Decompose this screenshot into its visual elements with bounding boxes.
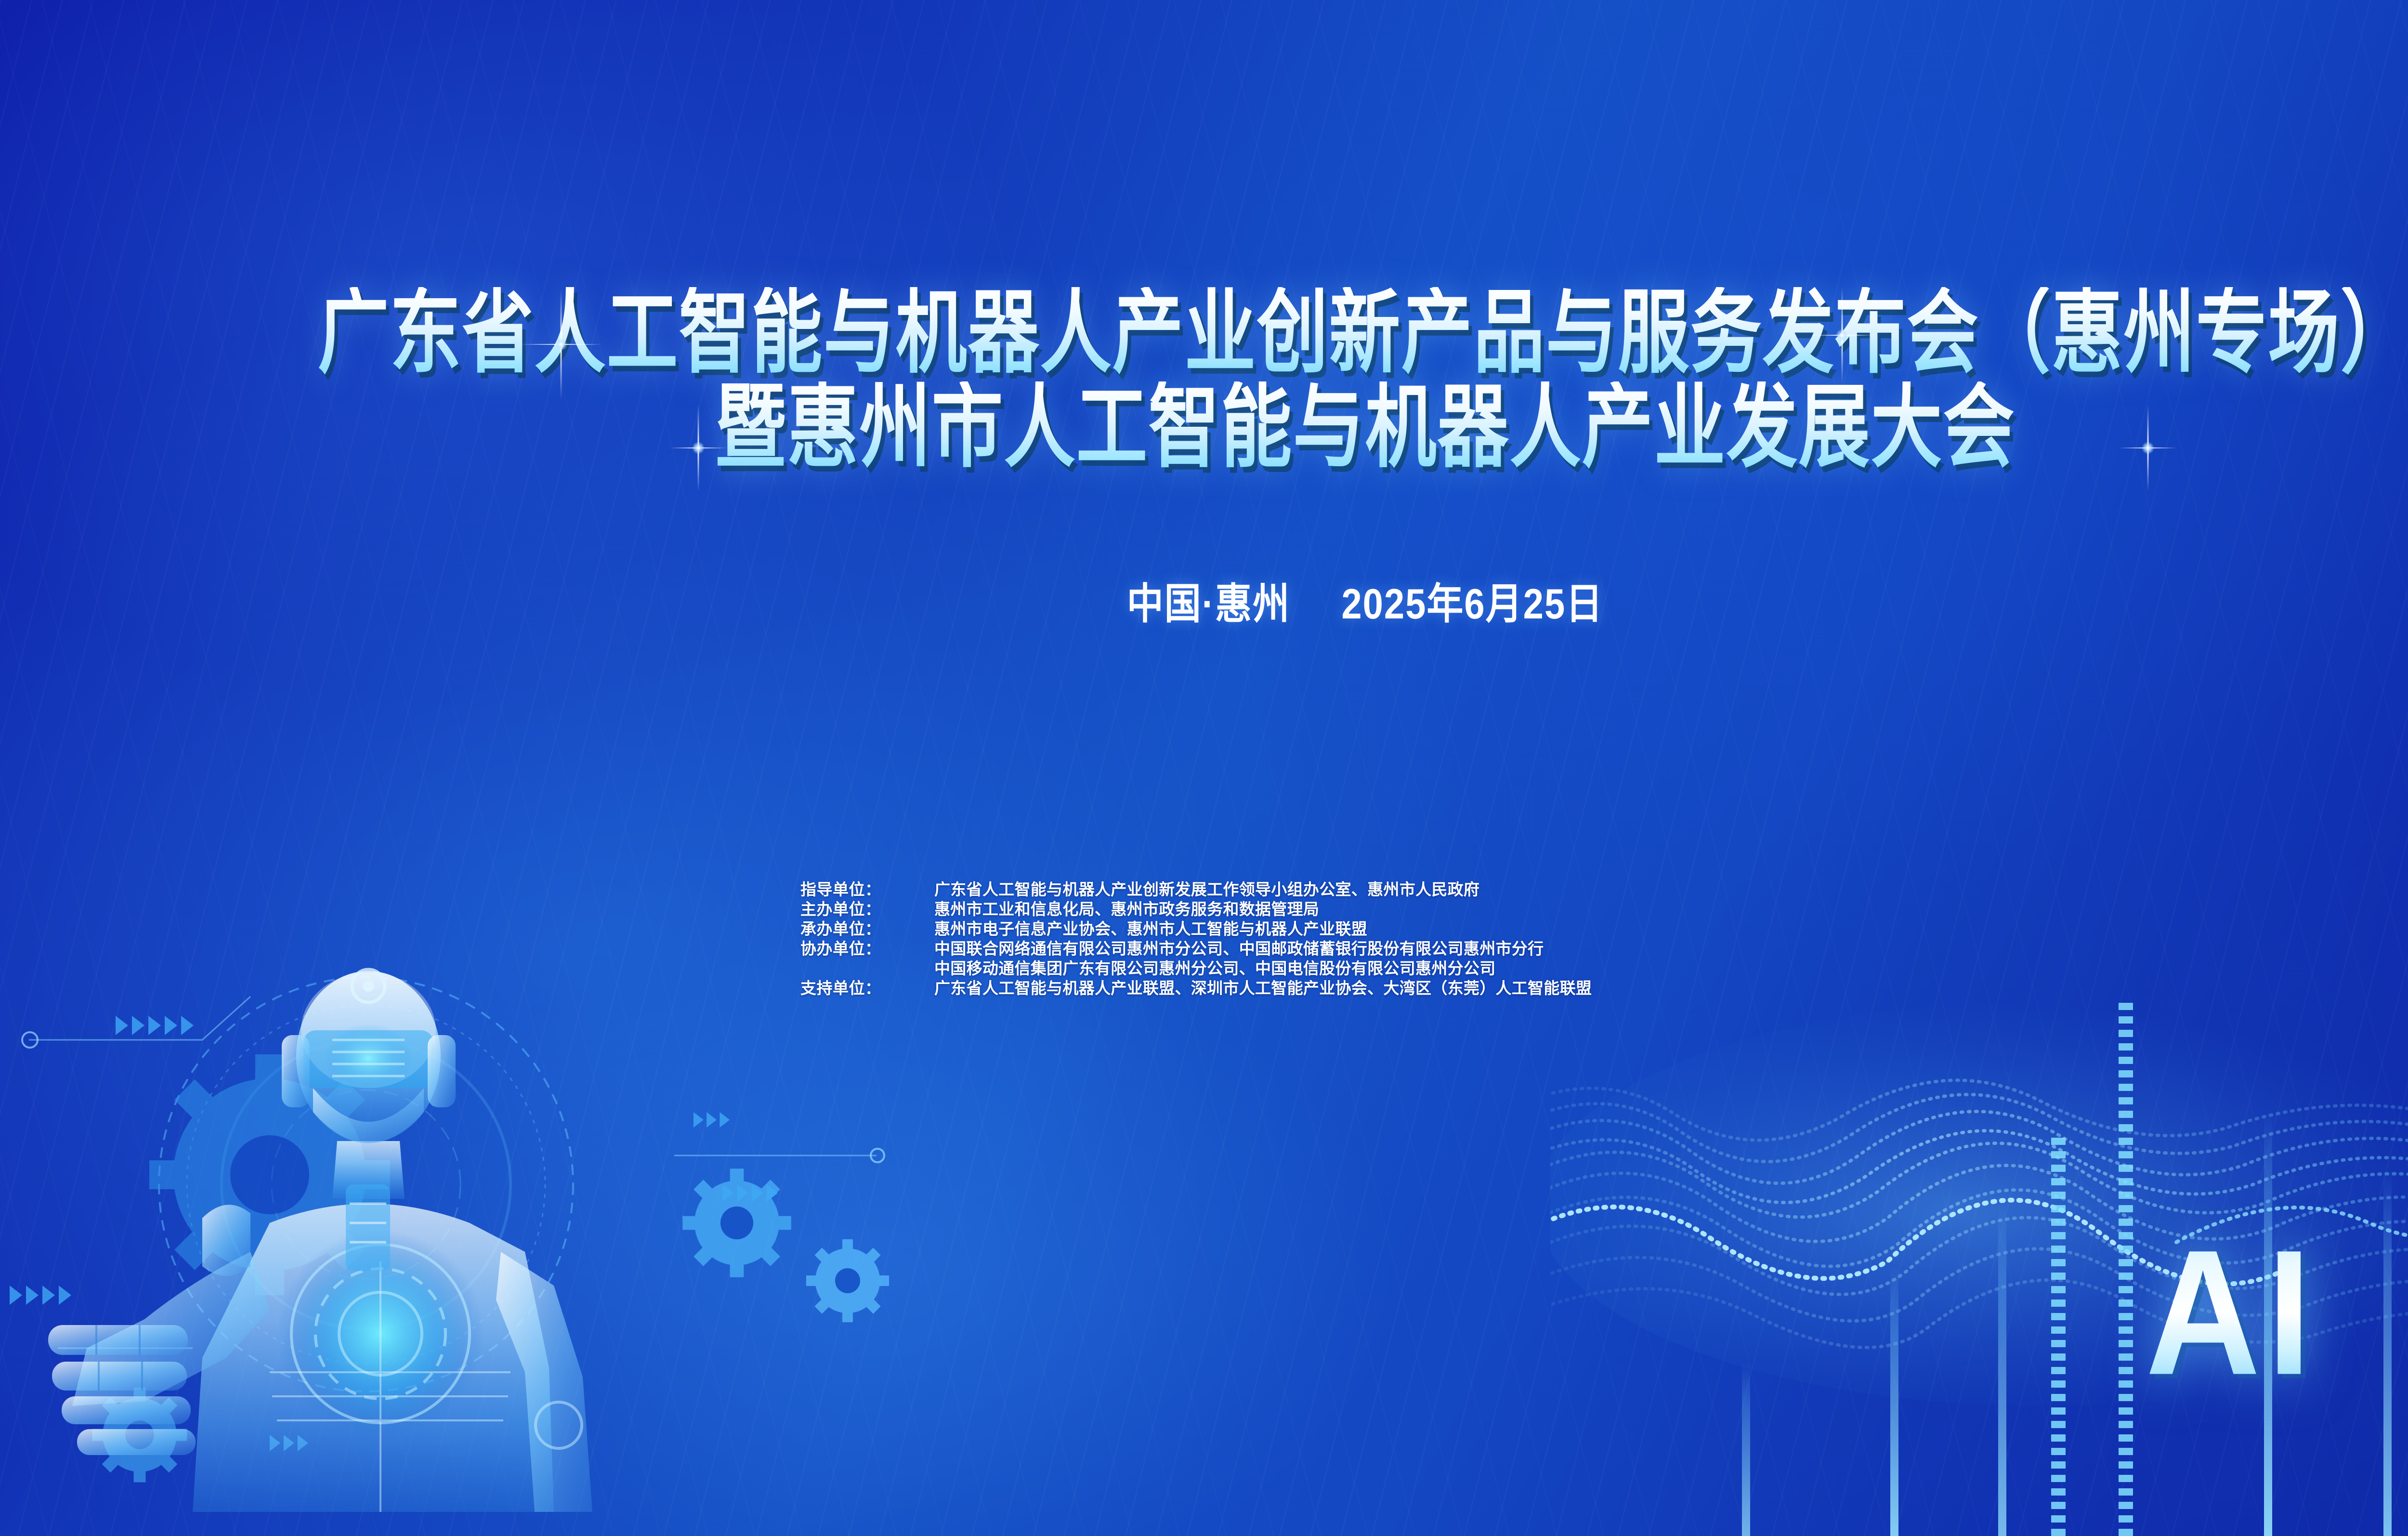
- gear-icon-small: [682, 1168, 791, 1277]
- right-decoration-group: [1550, 838, 2408, 1536]
- equalizer-column: [2051, 1112, 2066, 1536]
- vertical-light-bar: [1998, 1204, 2006, 1536]
- organizer-list: 指导单位： 广东省人工智能与机器人产业创新发展工作领导小组办公室、惠州市人民政府…: [800, 877, 1592, 995]
- organizer-value: 广东省人工智能与机器人产业联盟、深圳市人工智能产业协会、大湾区（东莞）人工智能联…: [934, 975, 1592, 998]
- subtitle-location: 中国·惠州: [1127, 580, 1290, 628]
- humanoid-robot-figure: [48, 970, 592, 1512]
- sound-wave-mesh: [1550, 838, 2408, 1536]
- equalizer-column: [2119, 963, 2133, 1536]
- background-diagonal-streaks: [0, 0, 2408, 1536]
- organizer-row: 承办单位： 惠州市电子信息产业协会、惠州市人工智能与机器人产业联盟: [800, 916, 1592, 935]
- vertical-light-bar: [2383, 1170, 2392, 1536]
- subtitle-date: 2025年6月25日: [1341, 580, 1603, 628]
- vertical-light-bar: [1742, 1363, 1750, 1536]
- title-line-2: 暨惠州市人工智能与机器人产业发展大会: [0, 381, 2408, 474]
- organizer-row: 协办单位： 中国联合网络通信有限公司惠州市分公司、中国邮政储蓄银行股份有限公司惠…: [800, 936, 1592, 955]
- gear-icon-small-2: [806, 1239, 889, 1322]
- chevron-arrows-icon: [10, 1016, 778, 1451]
- organizer-label: 支持单位：: [800, 975, 934, 998]
- background-glow-bottom-right: [1526, 717, 2408, 1536]
- title-line-1: 广东省人工智能与机器人产业创新产品与服务发布会（惠州专场）: [0, 287, 2408, 380]
- ai-logo-text: AI: [2146, 1223, 2318, 1402]
- gear-icon-small-3: [92, 1388, 187, 1483]
- background-glow-middle: [289, 910, 1445, 1536]
- subtitle-line: 中国·惠州 2025年6月25日: [0, 569, 2408, 631]
- gear-icon-large: [149, 1054, 390, 1295]
- poster-canvas: AI 广东省人工智能与机器人产业创新产品与服务发布会（惠州专场） 暨惠州市人工智…: [0, 0, 2408, 1536]
- vertical-light-bar: [1890, 1266, 1898, 1536]
- background-diagonal-streaks-secondary: [0, 0, 2408, 1536]
- organizer-row: 指导单位： 广东省人工智能与机器人产业创新发展工作领导小组办公室、惠州市人民政府: [800, 877, 1592, 895]
- organizer-row: 支持单位： 广东省人工智能与机器人产业联盟、深圳市人工智能产业协会、大湾区（东莞…: [800, 975, 1592, 994]
- poster-title-block: 广东省人工智能与机器人产业创新产品与服务发布会（惠州专场） 暨惠州市人工智能与机…: [0, 287, 2408, 454]
- organizer-label: 协办单位：: [800, 936, 934, 959]
